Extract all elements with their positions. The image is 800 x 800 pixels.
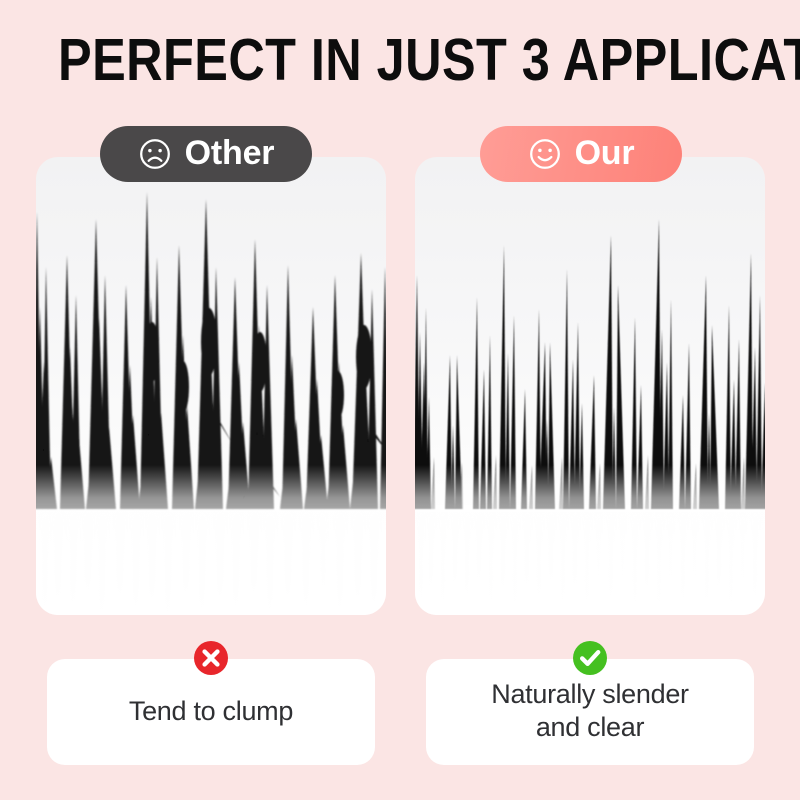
smile-face-icon bbox=[528, 137, 562, 171]
lash-image-panel-our bbox=[415, 157, 765, 615]
status-mark-check bbox=[570, 638, 610, 678]
slender-lashes-illustration bbox=[415, 157, 765, 615]
status-mark-cross bbox=[191, 638, 231, 678]
badge-other: Other bbox=[100, 126, 312, 182]
comparison-column-other: Other Tend to clump bbox=[36, 0, 386, 800]
badge-our-label: Our bbox=[575, 136, 635, 170]
caption-text-other: Tend to clump bbox=[129, 695, 293, 728]
caption-text-our: Naturally slender and clear bbox=[491, 678, 689, 744]
cross-circle-icon bbox=[191, 638, 231, 678]
badge-our: Our bbox=[480, 126, 682, 182]
sad-face-icon bbox=[138, 137, 172, 171]
comparison-column-our: Our Naturally slender and clear bbox=[415, 0, 765, 800]
badge-other-label: Other bbox=[185, 136, 275, 170]
check-circle-icon bbox=[570, 638, 610, 678]
lash-image-panel-other bbox=[36, 157, 386, 615]
clumped-lashes-illustration bbox=[36, 157, 386, 615]
